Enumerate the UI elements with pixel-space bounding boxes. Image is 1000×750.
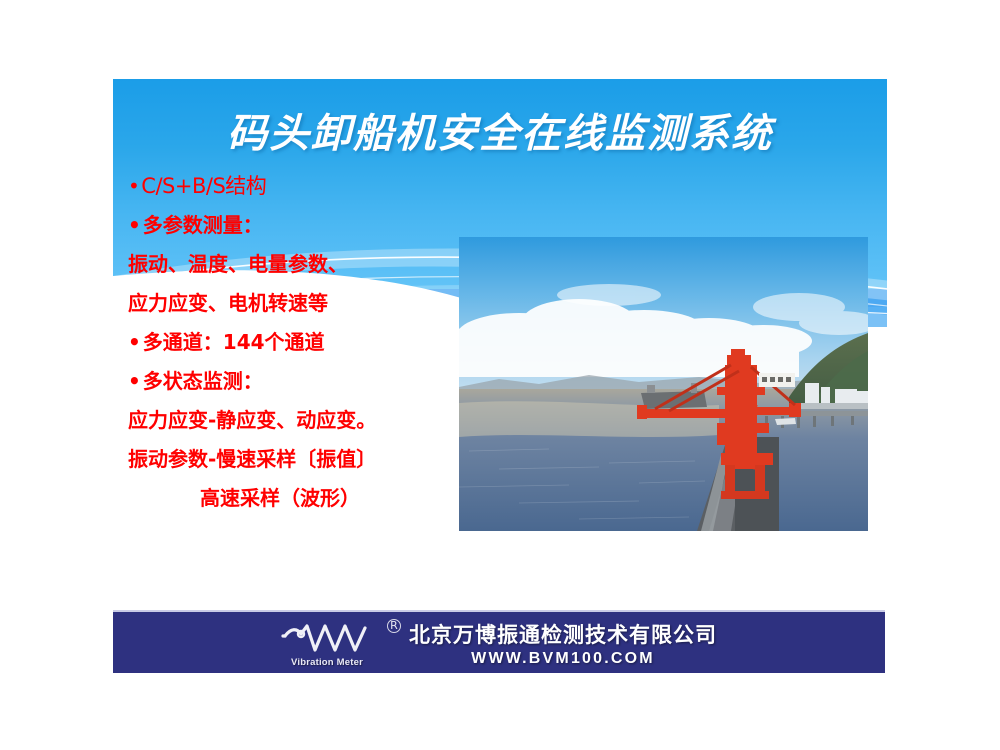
- harbor-photo: [459, 237, 868, 531]
- bullet-line-5: 多通道：144个通道: [128, 323, 488, 362]
- vibration-wave-icon: [281, 620, 399, 656]
- harbor-photo-graphic: [459, 237, 868, 531]
- company-name-cn: 北京万博振通检测技术有限公司: [409, 619, 717, 649]
- bullet-line-7: 应力应变-静应变、动应变。: [128, 401, 488, 440]
- bullet-line-6: 多状态监测：: [128, 362, 488, 401]
- logo-caption: Vibration Meter: [291, 657, 363, 668]
- registered-trademark-icon: R: [387, 619, 401, 633]
- bullet-line-9: 高速采样（波形）: [128, 479, 488, 518]
- footer-bar: R Vibration Meter 北京万博振通检测技术有限公司 WWW.BVM…: [113, 610, 885, 673]
- company-identity: 北京万博振通检测技术有限公司 WWW.BVM100.COM: [409, 619, 717, 668]
- bullet-line-1: C/S+B/S结构: [128, 167, 488, 206]
- company-logo: R Vibration Meter: [281, 620, 399, 666]
- bullet-line-4: 应力应变、电机转速等: [128, 284, 488, 323]
- bullet-line-8: 振动参数-慢速采样〔振值〕: [128, 440, 488, 479]
- bullet-list: C/S+B/S结构 多参数测量： 振动、温度、电量参数、 应力应变、电机转速等 …: [128, 167, 488, 518]
- bullet-line-3: 振动、温度、电量参数、: [128, 245, 488, 284]
- bullet-line-2: 多参数测量：: [128, 206, 488, 245]
- presentation-slide: 码头卸船机安全在线监测系统 C/S+B/S结构 多参数测量： 振动、温度、电量参…: [113, 79, 887, 673]
- company-website[interactable]: WWW.BVM100.COM: [471, 650, 655, 668]
- slide-title: 码头卸船机安全在线监测系统: [113, 101, 887, 159]
